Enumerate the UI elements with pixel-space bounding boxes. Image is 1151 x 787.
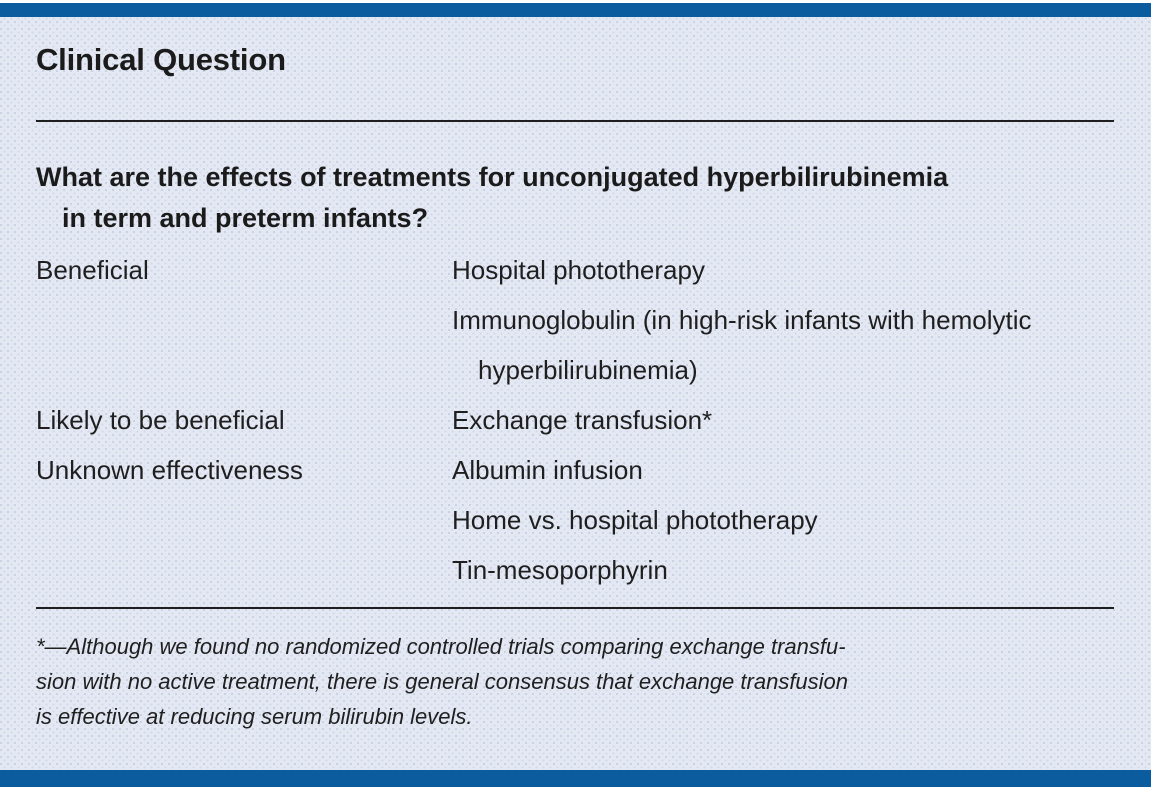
option-label: Home vs. hospital phototherapy xyxy=(452,495,1114,545)
clinical-question-text: What are the effects of treatments for u… xyxy=(36,157,962,239)
category-label: Unknown effectiveness xyxy=(36,445,452,495)
category-label: Beneficial xyxy=(36,245,452,295)
table-row: Beneficial Hospital phototherapy xyxy=(36,245,1114,295)
footnote-line: sion with no active treatment, there is … xyxy=(36,664,1114,699)
clinical-question-figure: Clinical Question What are the effects o… xyxy=(0,0,1151,787)
table-row: Likely to be beneficial Exchange transfu… xyxy=(36,395,1114,445)
table-row: Unknown effectiveness Albumin infusion xyxy=(36,445,1114,495)
page-title: Clinical Question xyxy=(36,44,286,75)
top-accent-bar xyxy=(0,3,1151,17)
footnote-line: *—Although we found no randomized contro… xyxy=(36,629,1114,664)
option-label: Albumin infusion xyxy=(452,445,1114,495)
option-label: Tin-mesoporphyrin xyxy=(452,545,1114,595)
footnote-text: *—Although we found no randomized contro… xyxy=(36,629,1114,734)
title-divider-rule xyxy=(36,120,1114,122)
footnote-divider-rule xyxy=(36,607,1114,609)
bottom-accent-bar xyxy=(0,770,1151,787)
table-row: Tin-mesoporphyrin xyxy=(36,545,1114,595)
table-row: Home vs. hospital phototherapy xyxy=(36,495,1114,545)
footnote-line: is effective at reducing serum bilirubin… xyxy=(36,699,1114,734)
option-label: Hospital phototherapy xyxy=(452,245,1114,295)
category-label: Likely to be beneficial xyxy=(36,395,452,445)
option-label: Immunoglobulin (in high-risk infants wit… xyxy=(452,295,1114,395)
evidence-table: Beneficial Hospital phototherapy Immunog… xyxy=(36,245,1114,595)
table-row: Immunoglobulin (in high-risk infants wit… xyxy=(36,295,1114,395)
option-label: Exchange transfusion* xyxy=(452,395,1114,445)
